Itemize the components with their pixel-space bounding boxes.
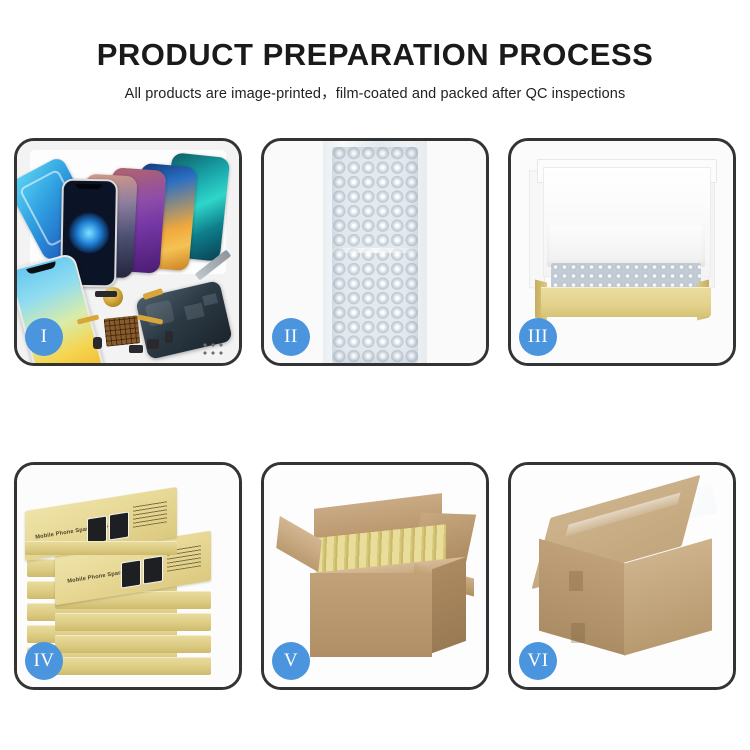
screws-set [201,341,225,357]
box-photo-top-2 [109,511,129,540]
step-panel-1[interactable]: I [14,138,242,366]
chip-part-4 [165,331,173,343]
product-preparation-infographic: PRODUCT PREPARATION PROCESS All products… [0,0,750,750]
chip-part-1 [95,291,117,297]
step-panel-2[interactable]: II [261,138,489,366]
step-badge-2: II [272,318,310,356]
stack-box-r3 [55,613,211,631]
copper-mesh-part [104,315,141,346]
box-photo-front-2 [143,555,163,584]
step-badge-5: V [272,642,310,680]
stack-box-r5 [55,657,211,675]
bubble-wrap-seam [330,248,420,253]
mailer-front-panel [541,287,711,317]
speaker-part-icon [103,287,123,307]
carton-handle-tab-lower [571,623,585,643]
step-badge-3: III [519,318,557,356]
bubble-wrapped-product [551,263,701,289]
box-photo-front-1 [121,559,141,588]
chip-part-3 [147,339,159,349]
step-panel-4[interactable]: Mobile Phone Spare Parts Mobile Phone Sp… [14,462,242,690]
bubble-wrap-bubbles [332,147,418,363]
steps-grid: I II [14,138,736,690]
step-badge-4: IV [25,642,63,680]
step-panel-3[interactable]: III [508,138,736,366]
chip-part-5 [129,345,143,353]
step-badge-1: I [25,318,63,356]
stack-box-r4 [55,635,211,653]
page-title: PRODUCT PREPARATION PROCESS [0,38,750,72]
carton-right-face [432,557,466,653]
carton-handle-tab-upper [569,571,583,591]
stack-box-top-front [25,541,177,555]
carton-front-face [310,573,432,657]
step-panel-5[interactable]: V [261,462,489,690]
header: PRODUCT PREPARATION PROCESS All products… [0,0,750,103]
chip-part-2 [93,337,102,349]
foam-padding [547,225,705,267]
step-badge-6: VI [519,642,557,680]
page-subtitle: All products are image-printed，film-coat… [0,82,750,103]
step-panel-6[interactable]: VI [508,462,736,690]
